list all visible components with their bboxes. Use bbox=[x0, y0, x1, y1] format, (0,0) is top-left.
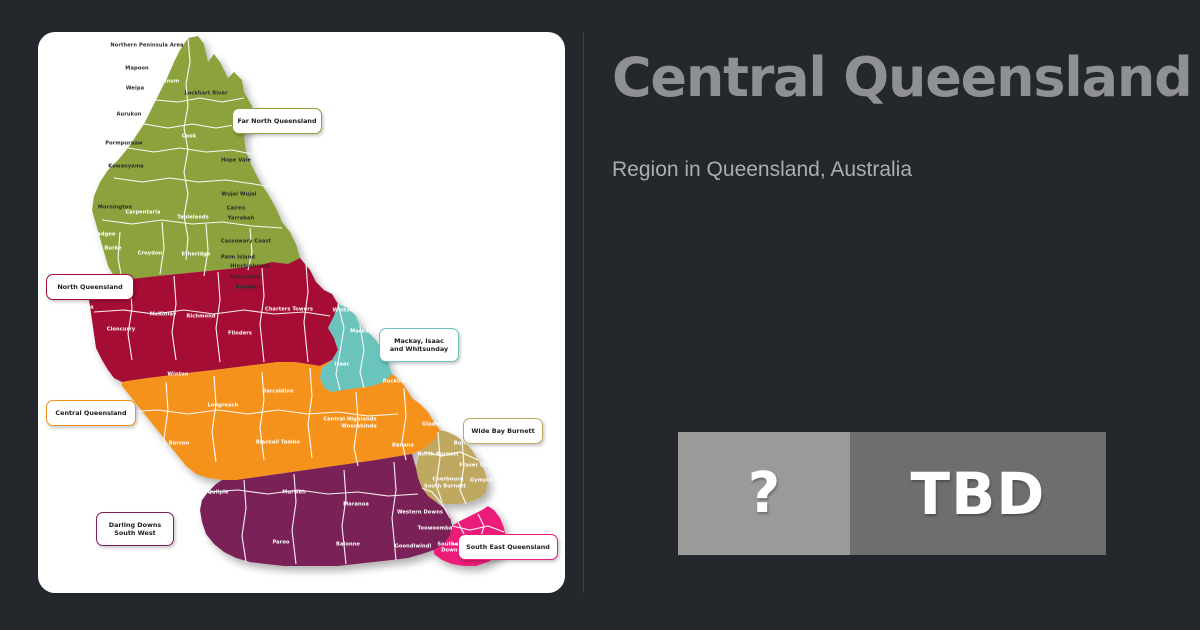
tbd-badge-icon: ? bbox=[678, 432, 850, 555]
map-callout-north-queensland: North Queensland bbox=[46, 274, 134, 300]
map-card: Northern Peninsula AreaMapoonNapranumWei… bbox=[38, 32, 565, 593]
page-title: Central Queensland bbox=[612, 48, 1200, 108]
region-far-north-queensland bbox=[92, 36, 300, 280]
map-callout-far-north-queensland: Far North Queensland bbox=[232, 108, 322, 134]
map-callout-wide-bay-burnett: Wide Bay Burnett bbox=[463, 418, 543, 444]
map-callout-central-queensland: Central Queensland bbox=[46, 400, 136, 426]
map-callout-south-east-queensland: South East Queensland bbox=[458, 534, 558, 560]
page-subtitle: Region in Queensland, Australia bbox=[612, 158, 912, 182]
map-stage: Northern Peninsula AreaMapoonNapranumWei… bbox=[38, 32, 565, 593]
og-preview-card: Northern Peninsula AreaMapoonNapranumWei… bbox=[0, 0, 1200, 630]
panel-divider bbox=[583, 32, 584, 593]
map-callout-mackay-isaac-and-whitsunday: Mackay, Isaac and Whitsunday bbox=[379, 328, 459, 362]
question-mark-icon: ? bbox=[748, 466, 780, 522]
tbd-badge-label-box: TBD bbox=[850, 432, 1106, 555]
info-panel: Central Queensland Region in Queensland,… bbox=[612, 32, 1200, 593]
map-callout-darling-downs-south-west: Darling Downs South West bbox=[96, 512, 174, 546]
tbd-badge-label: TBD bbox=[911, 465, 1046, 523]
tbd-badge: ? TBD bbox=[678, 432, 1106, 555]
